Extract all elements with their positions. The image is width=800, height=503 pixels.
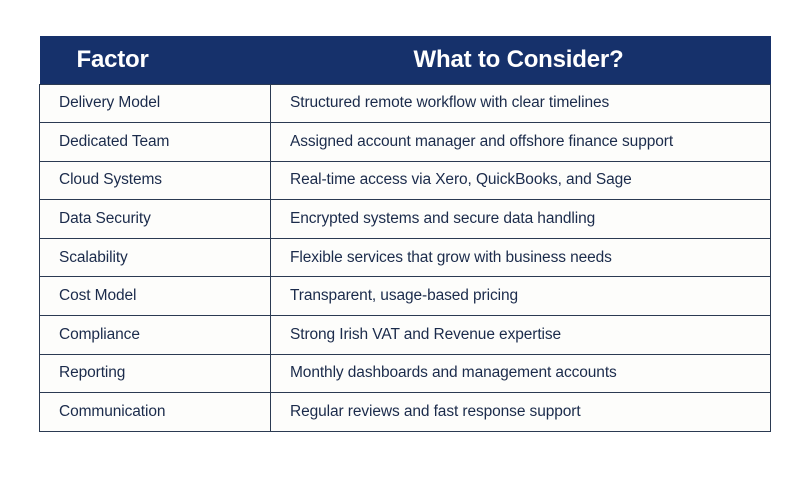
table-row: Communication Regular reviews and fast r… xyxy=(40,393,771,432)
table-row: Scalability Flexible services that grow … xyxy=(40,238,771,277)
table-row: Compliance Strong Irish VAT and Revenue … xyxy=(40,316,771,355)
table-body: Delivery Model Structured remote workflo… xyxy=(40,84,771,431)
cell-what-to-consider: Transparent, usage-based pricing xyxy=(271,277,771,316)
cell-what-to-consider: Assigned account manager and offshore fi… xyxy=(271,123,771,162)
cell-factor: Cloud Systems xyxy=(40,161,271,200)
column-header-factor: Factor xyxy=(40,36,271,84)
cell-factor: Reporting xyxy=(40,354,271,393)
cell-what-to-consider: Strong Irish VAT and Revenue expertise xyxy=(271,316,771,355)
table-row: Reporting Monthly dashboards and managem… xyxy=(40,354,771,393)
cell-what-to-consider: Structured remote workflow with clear ti… xyxy=(271,84,771,123)
comparison-table: Factor What to Consider? Delivery Model … xyxy=(39,36,771,432)
cell-factor: Scalability xyxy=(40,238,271,277)
cell-what-to-consider: Regular reviews and fast response suppor… xyxy=(271,393,771,432)
column-header-what-to-consider: What to Consider? xyxy=(271,36,771,84)
table-row: Cloud Systems Real-time access via Xero,… xyxy=(40,161,771,200)
table-row: Cost Model Transparent, usage-based pric… xyxy=(40,277,771,316)
cell-factor: Compliance xyxy=(40,316,271,355)
table-row: Delivery Model Structured remote workflo… xyxy=(40,84,771,123)
cell-what-to-consider: Flexible services that grow with busines… xyxy=(271,238,771,277)
table-row: Data Security Encrypted systems and secu… xyxy=(40,200,771,239)
table-row: Dedicated Team Assigned account manager … xyxy=(40,123,771,162)
cell-what-to-consider: Monthly dashboards and management accoun… xyxy=(271,354,771,393)
cell-factor: Communication xyxy=(40,393,271,432)
cell-factor: Delivery Model xyxy=(40,84,271,123)
table-header-row: Factor What to Consider? xyxy=(40,36,771,84)
cell-what-to-consider: Encrypted systems and secure data handli… xyxy=(271,200,771,239)
cell-what-to-consider: Real-time access via Xero, QuickBooks, a… xyxy=(271,161,771,200)
cell-factor: Cost Model xyxy=(40,277,271,316)
cell-factor: Data Security xyxy=(40,200,271,239)
table-header: Factor What to Consider? xyxy=(40,36,771,84)
cell-factor: Dedicated Team xyxy=(40,123,271,162)
